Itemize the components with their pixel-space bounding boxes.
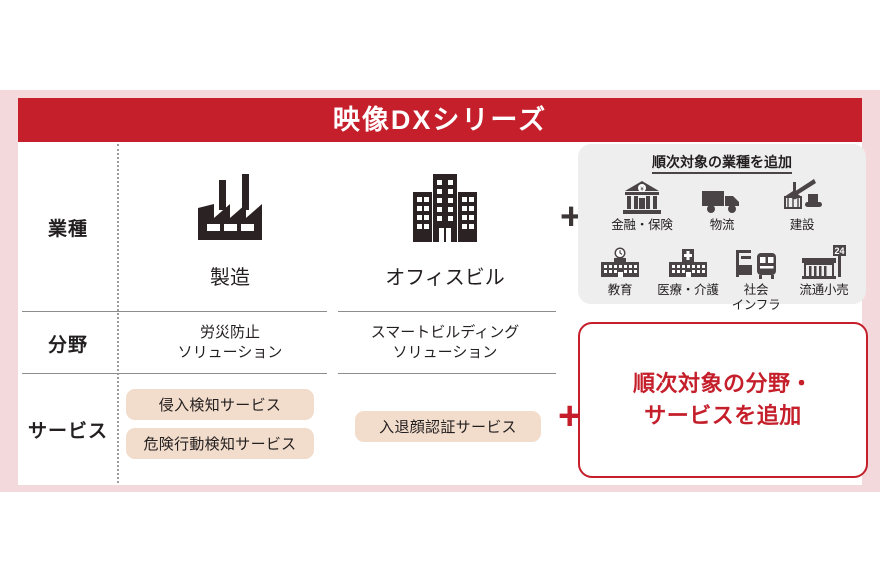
train-crossing-icon xyxy=(733,243,779,281)
industry-caption-office: オフィスビル xyxy=(385,261,505,290)
field-line1-manufacturing: 労災防止 xyxy=(178,323,283,343)
row-label-service: サービス xyxy=(18,374,118,485)
truck-icon xyxy=(701,178,743,216)
upcoming-industries-row-2: 教育 xyxy=(578,243,866,313)
title-bar: 映像DXシリーズ xyxy=(18,98,862,142)
industry-label-education: 教育 xyxy=(608,283,633,298)
row-divider-1-right xyxy=(338,311,556,312)
industry-label-social-infra-line1: 社会 xyxy=(744,283,769,297)
industry-label-social-infra-line2: インフラ xyxy=(732,298,781,312)
industry-item-education[interactable]: 教育 xyxy=(586,243,654,313)
convenience-store-icon: 24 xyxy=(800,243,848,281)
field-line2-manufacturing: ソリューション xyxy=(178,343,283,363)
industry-label-healthcare: 医療・介護 xyxy=(657,283,719,298)
industry-item-healthcare[interactable]: 医療・介護 xyxy=(654,243,722,313)
infographic-canvas: 映像DXシリーズ 業種 分野 サービス 製造 xyxy=(0,0,880,586)
industry-caption-manufacturing: 製造 xyxy=(210,261,250,290)
industry-label-logistics: 物流 xyxy=(710,218,735,233)
office-building-icon xyxy=(405,166,485,248)
row-divider-2-right xyxy=(338,373,556,374)
field-cell-office: スマートビルディング ソリューション xyxy=(340,313,550,373)
upcoming-industries-heading: 順次対象の業種を追加 xyxy=(578,152,866,172)
page-title: 映像DXシリーズ xyxy=(333,107,547,134)
school-icon xyxy=(599,243,641,281)
field-cell-manufacturing: 労災防止 ソリューション xyxy=(125,313,335,373)
industry-item-finance[interactable]: ¥ 金融・保険 xyxy=(602,178,682,233)
industry-cell-manufacturing: 製造 xyxy=(125,150,335,305)
bank-icon: ¥ xyxy=(622,178,662,216)
upcoming-industries-row-1: ¥ 金融・保険 xyxy=(578,178,866,233)
industry-item-retail[interactable]: 24 流通小売 xyxy=(790,243,858,313)
upcoming-services-line1: 順次対象の分野・ xyxy=(633,368,813,400)
service-chip-risk-behavior-detection[interactable]: 危険行動検知サービス xyxy=(126,428,314,459)
field-line1-office: スマートビルディング xyxy=(371,323,520,343)
industry-item-social-infra[interactable]: 社会 インフラ xyxy=(722,243,790,313)
industry-label-construction: 建設 xyxy=(790,218,815,233)
service-chip-intrusion-detection[interactable]: 侵入検知サービス xyxy=(126,389,314,420)
svg-text:24: 24 xyxy=(834,246,844,256)
factory-icon xyxy=(190,166,270,248)
field-line2-office: ソリューション xyxy=(371,343,520,363)
industry-cell-office: オフィスビル xyxy=(340,150,550,305)
upcoming-industries-panel: 順次対象の業種を追加 ¥ xyxy=(578,144,866,304)
crane-icon xyxy=(780,178,824,216)
industry-label-finance: 金融・保険 xyxy=(611,218,673,233)
upcoming-services-text: 順次対象の分野・ サービスを追加 xyxy=(633,368,813,432)
industry-item-logistics[interactable]: 物流 xyxy=(682,178,762,233)
row-label-industry: 業種 xyxy=(18,142,118,312)
upcoming-services-line2: サービスを追加 xyxy=(633,400,813,432)
industry-item-construction[interactable]: 建設 xyxy=(762,178,842,233)
upcoming-industries-heading-text: 順次対象の業種を追加 xyxy=(652,154,792,174)
industry-label-social-infra: 社会 インフラ xyxy=(732,283,781,313)
industry-label-retail: 流通小売 xyxy=(799,283,848,298)
service-chip-face-authentication[interactable]: 入退顔認証サービス xyxy=(355,411,541,442)
upcoming-services-callout: 順次対象の分野・ サービスを追加 xyxy=(578,322,868,478)
hospital-icon xyxy=(667,243,709,281)
row-label-field: 分野 xyxy=(18,312,118,374)
